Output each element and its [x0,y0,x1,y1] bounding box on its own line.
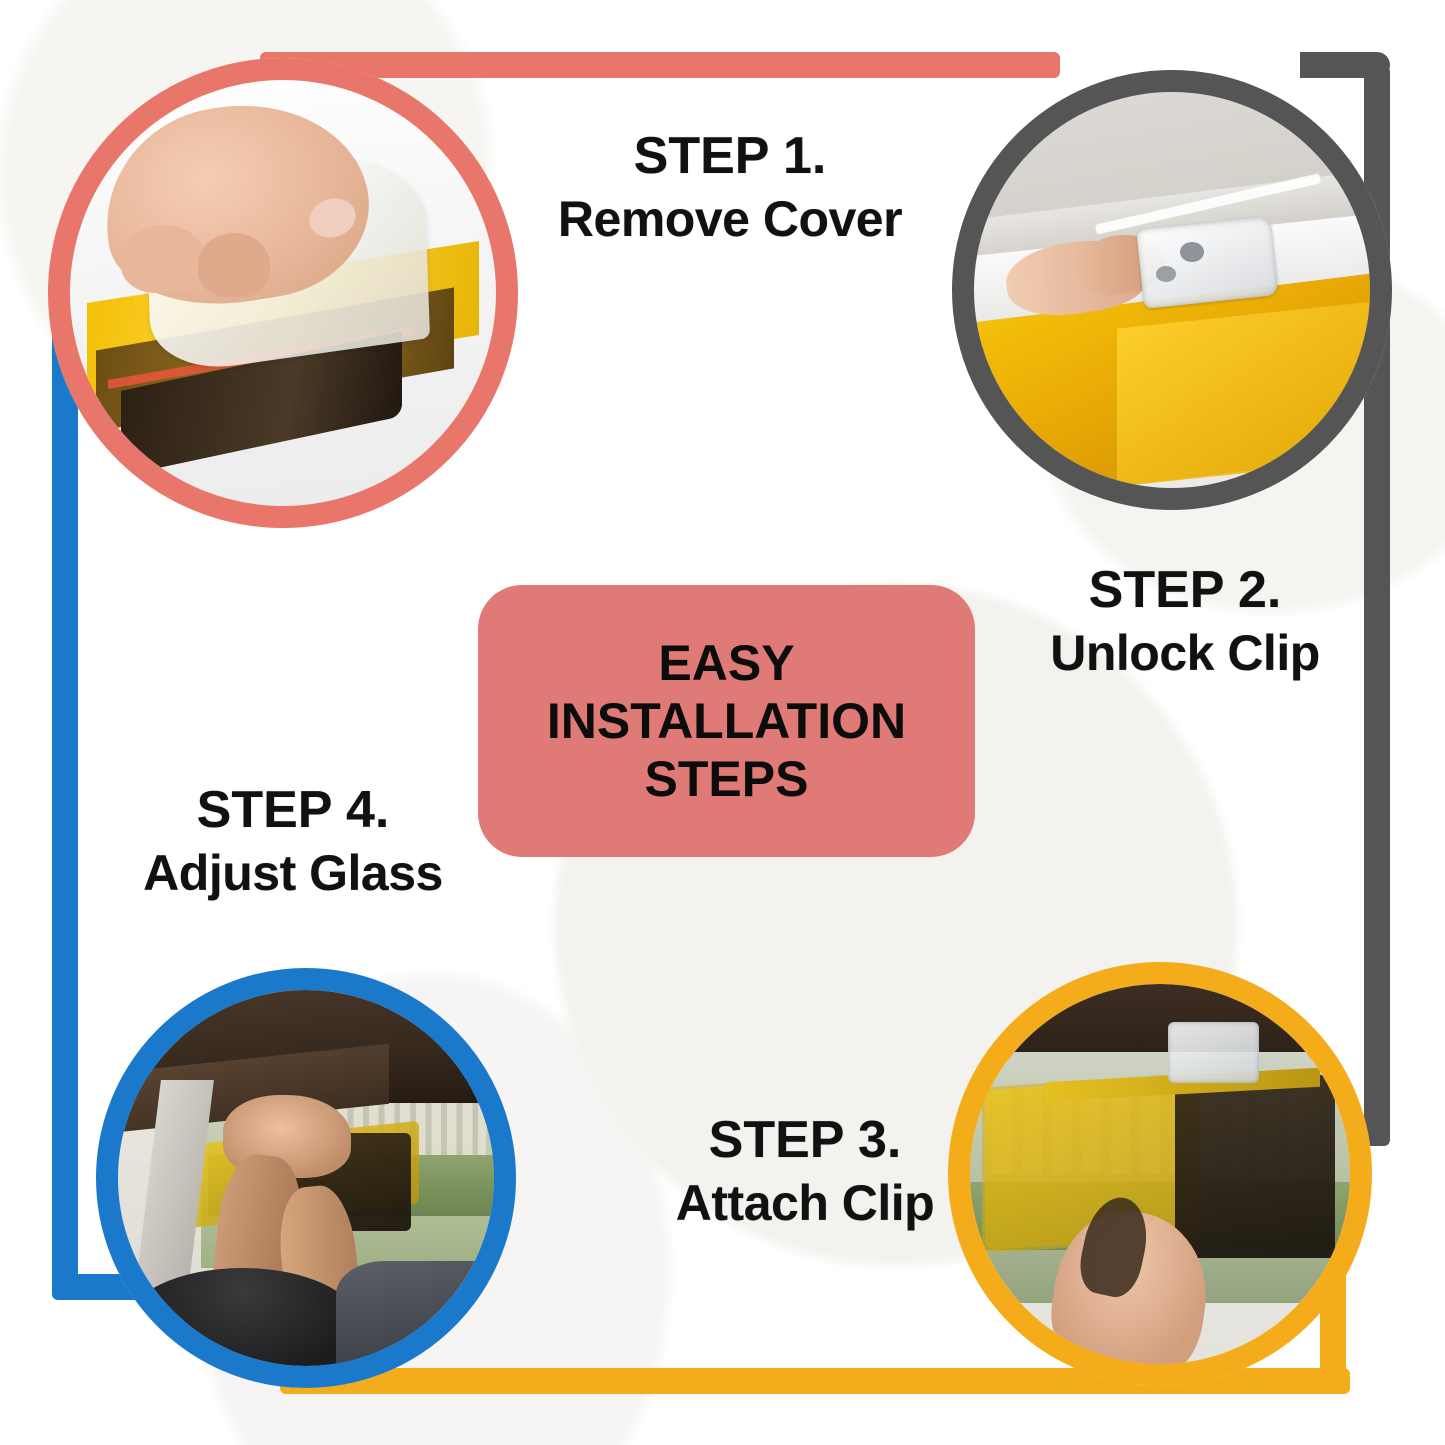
step-4-name: Adjust Glass [108,846,478,900]
step-2-name: Unlock Clip [1000,626,1370,680]
step-1-name: Remove Cover [520,192,940,246]
step-1-photo-circle [48,58,518,528]
center-badge: EASY INSTALLATION STEPS [478,585,975,857]
step-2-photo [974,92,1370,488]
step-4-photo-circle [96,968,516,1388]
step-3-number: STEP 3. [620,1112,990,1168]
step-4-number: STEP 4. [108,782,478,838]
step-1-number: STEP 1. [520,128,940,184]
step-3-name: Attach Clip [620,1176,990,1230]
infographic-canvas: EASY INSTALLATION STEPS STEP 1. Remove C… [0,0,1445,1445]
step-2-photo-circle [952,70,1392,510]
step-2-number: STEP 2. [1000,562,1370,618]
step-3-label: STEP 3. Attach Clip [620,1112,990,1230]
step-4-label: STEP 4. Adjust Glass [108,782,478,900]
step-2-label: STEP 2. Unlock Clip [1000,562,1370,680]
step-3-photo-circle [948,962,1372,1386]
connector-right-corner-cap [1300,52,1390,78]
step-1-label: STEP 1. Remove Cover [520,128,940,246]
step-3-photo [970,984,1350,1364]
center-badge-text: EASY INSTALLATION STEPS [529,634,924,808]
step-1-photo [70,80,496,506]
connector-top-step1-to-step2 [260,52,1060,78]
step-4-photo [118,990,494,1366]
